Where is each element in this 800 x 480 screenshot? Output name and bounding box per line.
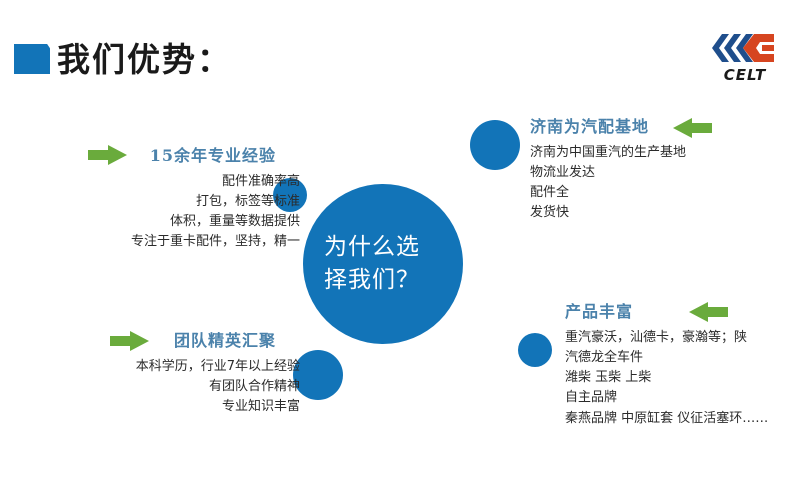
block-base-line: 发货快 bbox=[530, 203, 800, 223]
node-circle-products bbox=[518, 333, 552, 367]
title-marker-icon bbox=[14, 44, 50, 74]
block-experience-body: 配件准确率高 打包，标签等标准 体积，重量等数据提供 专注于重卡配件，坚持，精一 bbox=[0, 172, 300, 253]
node-circle-team bbox=[293, 350, 343, 400]
center-hub-label: 为什么选 择我们？ bbox=[324, 231, 442, 298]
block-experience-heading: 15余年专业经验 bbox=[0, 142, 300, 166]
block-base-body: 济南为中国重汽的生产基地 物流业发达 配件全 发货快 bbox=[530, 143, 800, 224]
block-products-line: 重汽豪沃，汕德卡，豪瀚等；陕 bbox=[565, 328, 800, 348]
block-products-heading: 产品丰富 bbox=[565, 298, 800, 322]
block-experience: 15余年专业经验 配件准确率高 打包，标签等标准 体积，重量等数据提供 专注于重… bbox=[0, 142, 300, 253]
block-team-line: 专业知识丰富 bbox=[0, 397, 300, 417]
company-logo: CELT bbox=[702, 28, 788, 90]
block-products-line: 潍柴 玉柴 上柴 bbox=[565, 368, 800, 388]
block-team-body: 本科学历，行业7年以上经验 有团队合作精神 专业知识丰富 bbox=[0, 357, 300, 417]
logo-text: CELT bbox=[702, 66, 788, 84]
block-experience-line: 配件准确率高 bbox=[0, 172, 300, 192]
block-team-line: 有团队合作精神 bbox=[0, 377, 300, 397]
slide-header: 我们优势： CELT bbox=[0, 0, 800, 100]
block-products-line: 汽德龙全车件 bbox=[565, 348, 800, 368]
block-products-body: 重汽豪沃，汕德卡，豪瀚等；陕 汽德龙全车件 潍柴 玉柴 上柴 自主品牌 秦燕品牌… bbox=[565, 328, 800, 429]
page-title: 我们优势： bbox=[57, 33, 232, 81]
block-experience-line: 专注于重卡配件，坚持，精一 bbox=[0, 232, 300, 252]
celt-logo-mark bbox=[710, 28, 780, 68]
block-experience-line: 体积，重量等数据提供 bbox=[0, 212, 300, 232]
block-base-line: 配件全 bbox=[530, 183, 800, 203]
block-base-heading: 济南为汽配基地 bbox=[530, 113, 800, 137]
block-experience-line: 打包，标签等标准 bbox=[0, 192, 300, 212]
block-base: 济南为汽配基地 济南为中国重汽的生产基地 物流业发达 配件全 发货快 bbox=[530, 113, 800, 224]
block-base-line: 物流业发达 bbox=[530, 163, 800, 183]
block-products-line: 自主品牌 bbox=[565, 388, 800, 408]
block-products-line: 秦燕品牌 中原缸套 仪征活塞环…… bbox=[565, 409, 800, 429]
block-team: 团队精英汇聚 本科学历，行业7年以上经验 有团队合作精神 专业知识丰富 bbox=[0, 327, 300, 417]
node-circle-base bbox=[470, 120, 520, 170]
block-base-line: 济南为中国重汽的生产基地 bbox=[530, 143, 800, 163]
block-team-heading: 团队精英汇聚 bbox=[0, 327, 300, 351]
block-team-line: 本科学历，行业7年以上经验 bbox=[0, 357, 300, 377]
center-hub: 为什么选 择我们？ bbox=[303, 184, 463, 344]
slide-canvas: 我们优势： CELT 为什么选 择我们？ 15余年专业经验 配件准确率高 bbox=[0, 0, 800, 480]
center-hub-line2: 择我们？ bbox=[324, 264, 442, 297]
center-hub-line1: 为什么选 bbox=[324, 231, 442, 264]
block-products: 产品丰富 重汽豪沃，汕德卡，豪瀚等；陕 汽德龙全车件 潍柴 玉柴 上柴 自主品牌… bbox=[565, 298, 800, 429]
